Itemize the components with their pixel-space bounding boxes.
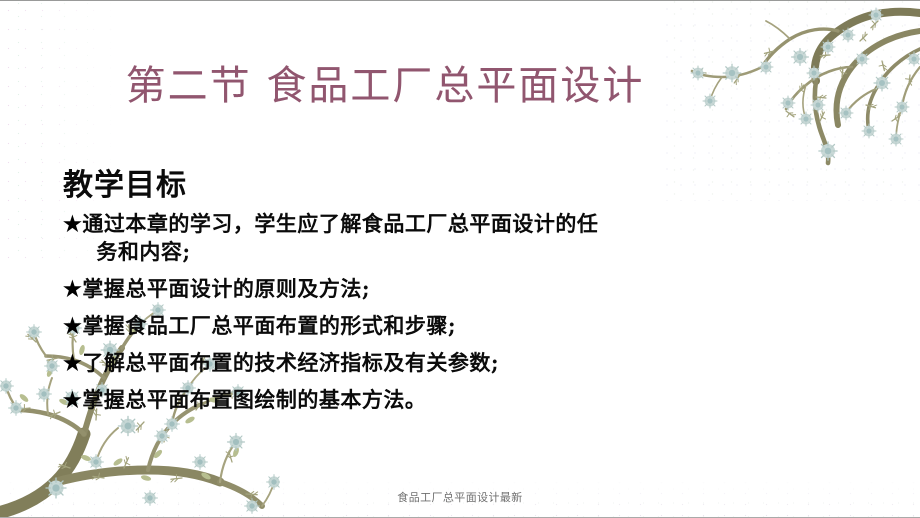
star-bullet-icon: ★ bbox=[63, 386, 82, 414]
list-item-line: 通过本章的学习，学生应了解食品工厂总平面设计的任 bbox=[82, 211, 598, 236]
star-bullet-icon: ★ bbox=[63, 210, 82, 238]
list-item: ★ 了解总平面布置的技术经济指标及有关参数; bbox=[63, 349, 703, 377]
list-item: ★ 掌握总平面设计的原则及方法; bbox=[63, 275, 703, 303]
objectives-heading: 教学目标 bbox=[63, 167, 703, 205]
objectives-block: 教学目标 ★ 通过本章的学习，学生应了解食品工厂总平面设计的任 务和内容; ★ … bbox=[63, 167, 703, 414]
list-item-text: 掌握总平面设计的原则及方法; bbox=[82, 275, 703, 303]
list-item: ★ 掌握食品工厂总平面布置的形式和步骤; bbox=[63, 312, 703, 340]
slide-footer: 食品工厂总平面设计最新 bbox=[0, 489, 920, 505]
slide-title: 第二节 食品工厂总平面设计 bbox=[0, 59, 770, 113]
slide-canvas: 第二节 食品工厂总平面设计 教学目标 ★ 通过本章的学习，学生应了解食品工厂总平… bbox=[0, 0, 920, 518]
list-item-line-continued: 务和内容; bbox=[82, 238, 637, 266]
list-item-text: 了解总平面布置的技术经济指标及有关参数; bbox=[82, 349, 703, 377]
list-item-text: 通过本章的学习，学生应了解食品工厂总平面设计的任 务和内容; bbox=[82, 210, 637, 266]
star-bullet-icon: ★ bbox=[63, 275, 82, 303]
star-bullet-icon: ★ bbox=[63, 312, 82, 340]
list-item: ★ 通过本章的学习，学生应了解食品工厂总平面设计的任 务和内容; bbox=[63, 210, 703, 266]
list-item: ★ 掌握总平面布置图绘制的基本方法。 bbox=[63, 386, 703, 414]
star-bullet-icon: ★ bbox=[63, 349, 82, 377]
list-item-text: 掌握食品工厂总平面布置的形式和步骤; bbox=[82, 312, 703, 340]
list-item-text: 掌握总平面布置图绘制的基本方法。 bbox=[82, 386, 703, 414]
